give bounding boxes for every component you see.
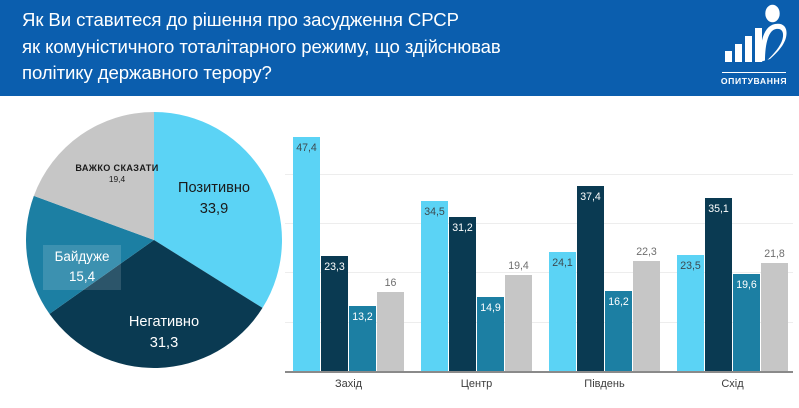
- bar-category-label: Південь: [549, 378, 660, 390]
- bar-value-label: 47,4: [289, 142, 324, 154]
- bar-value-label: 35,1: [701, 203, 736, 215]
- page-title: Як Ви ставитеся до рішення про засудженн…: [22, 7, 682, 87]
- bar-chart-axis: [285, 371, 793, 373]
- bar-value-label: 14,9: [473, 302, 508, 314]
- bar-category-label: Захід: [293, 378, 404, 390]
- bar-value-label: 22,3: [629, 246, 664, 258]
- bar: 24,1: [549, 252, 576, 371]
- bar: 47,4: [293, 137, 320, 371]
- bar-category-label: Схід: [677, 378, 788, 390]
- bar-category-label: Центр: [421, 378, 532, 390]
- bar: 14,9: [477, 297, 504, 371]
- bar-value-label: 13,2: [345, 311, 380, 323]
- bar-group: 34,531,214,919,4: [421, 139, 536, 371]
- bar: 19,4: [505, 275, 532, 371]
- slide-canvas: Як Ви ставитеся до рішення про засудженн…: [0, 0, 799, 408]
- logo-wordmark: ОПИТУВАННЯ: [713, 76, 795, 86]
- bar-value-label: 16,2: [601, 296, 636, 308]
- bar: 34,5: [421, 201, 448, 371]
- bar-value-label: 23,5: [673, 260, 708, 272]
- bar: 31,2: [449, 217, 476, 371]
- bar-value-label: 16: [373, 277, 408, 289]
- bar: 13,2: [349, 306, 376, 371]
- bar-group: 47,423,313,216: [293, 139, 408, 371]
- person-bar-chart-logo-icon: [713, 4, 793, 68]
- pie-chart-svg: [26, 112, 282, 368]
- logo-divider: [722, 72, 786, 73]
- bar: 21,8: [761, 263, 788, 371]
- bar-chart: 47,423,313,21634,531,214,919,424,137,416…: [285, 110, 793, 400]
- bar: 23,3: [321, 256, 348, 371]
- bar: 19,6: [733, 274, 760, 371]
- bar: 35,1: [705, 198, 732, 371]
- brand-logo: ОПИТУВАННЯ: [713, 4, 793, 92]
- bar-value-label: 34,5: [417, 206, 452, 218]
- bar-group: 24,137,416,222,3: [549, 139, 664, 371]
- bar-value-label: 31,2: [445, 222, 480, 234]
- header-banner: Як Ви ставитеся до рішення про засудженн…: [0, 0, 799, 96]
- bar: 23,5: [677, 255, 704, 371]
- bar-value-label: 37,4: [573, 191, 608, 203]
- bar: 16,2: [605, 291, 632, 371]
- bar-value-label: 19,6: [729, 279, 764, 291]
- bar-value-label: 21,8: [757, 248, 792, 260]
- pie-slices: [26, 112, 282, 368]
- pie-chart: Позитивно 33,9 Негативно 31,3 Байдуже 15…: [26, 112, 282, 368]
- bar-value-label: 24,1: [545, 257, 580, 269]
- bar: 16: [377, 292, 404, 371]
- bar: 37,4: [577, 186, 604, 371]
- bar: 22,3: [633, 261, 660, 371]
- bar-value-label: 23,3: [317, 261, 352, 273]
- bar-value-label: 19,4: [501, 260, 536, 272]
- bar-group: 23,535,119,621,8: [677, 139, 792, 371]
